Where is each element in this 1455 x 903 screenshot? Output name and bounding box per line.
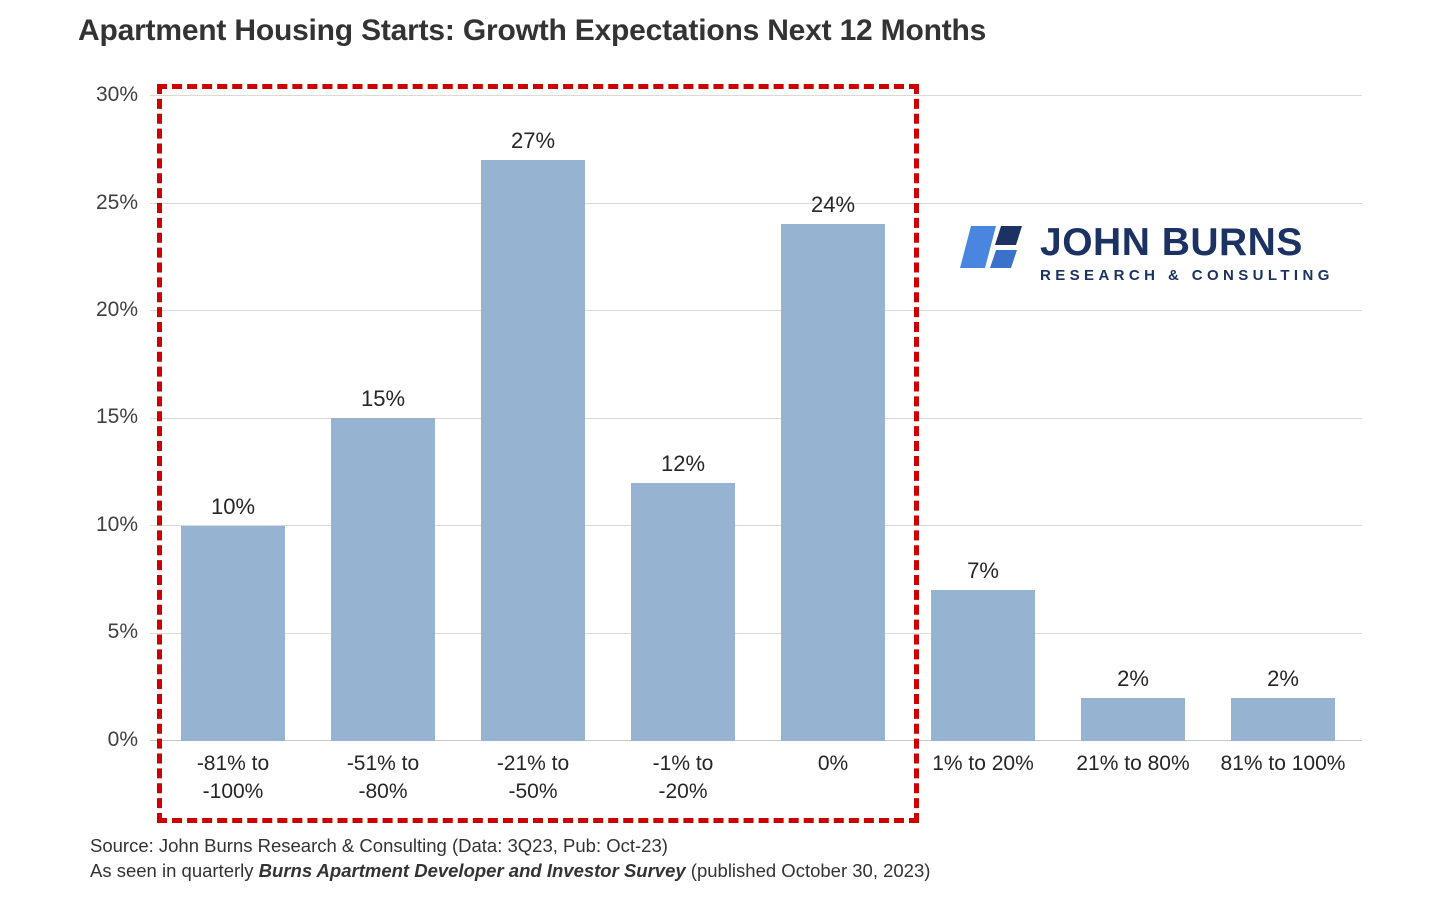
chart-title: Apartment Housing Starts: Growth Expecta… [78, 14, 986, 48]
john-burns-logo-text: JOHN BURNS RESEARCH & CONSULTING [1040, 222, 1308, 284]
x-tick-line2: -100% [151, 778, 315, 806]
x-tick-line1: 21% to 80% [1051, 750, 1215, 778]
bar-21-to-80[interactable] [1081, 698, 1185, 741]
bar-label-81-to-100: 2% [1231, 666, 1335, 692]
gridline-20 [150, 310, 1362, 311]
bar-neg1-to-neg20[interactable] [631, 483, 735, 741]
x-tick-neg21-to-neg50: -21% to -50% [451, 750, 615, 806]
bar-label-zero: 24% [781, 192, 885, 218]
y-tick-10: 10% [18, 513, 138, 537]
x-tick-line1: -21% to [451, 750, 615, 778]
x-tick-line2: -50% [451, 778, 615, 806]
y-tick-20: 20% [18, 298, 138, 322]
source-footer: Source: John Burns Research & Consulting… [90, 833, 930, 883]
y-tick-0: 0% [18, 728, 138, 752]
x-tick-line1: -1% to [601, 750, 765, 778]
source-line: Source: John Burns Research & Consulting… [90, 833, 930, 858]
bar-1-to-20[interactable] [931, 590, 1035, 741]
x-tick-line1: 81% to 100% [1201, 750, 1365, 778]
x-tick-zero: 0% [751, 750, 915, 778]
bar-label-21-to-80: 2% [1081, 666, 1185, 692]
x-tick-line1: 1% to 20% [901, 750, 1065, 778]
x-tick-line2: -20% [601, 778, 765, 806]
x-tick-line1: -81% to [151, 750, 315, 778]
x-tick-line2: -80% [301, 778, 465, 806]
bar-label-neg51-to-neg80: 15% [331, 386, 435, 412]
bar-neg81-to-neg100[interactable] [181, 526, 285, 741]
gridline-30 [150, 95, 1362, 96]
logo-subtitle: RESEARCH & CONSULTING [1040, 267, 1308, 284]
bar-neg51-to-neg80[interactable] [331, 418, 435, 741]
bar-81-to-100[interactable] [1231, 698, 1335, 741]
x-tick-neg1-to-neg20: -1% to -20% [601, 750, 765, 806]
survey-title: Burns Apartment Developer and Investor S… [259, 860, 686, 881]
bar-label-neg21-to-neg50: 27% [481, 128, 585, 154]
survey-line: As seen in quarterly Burns Apartment Dev… [90, 858, 930, 883]
bar-label-1-to-20: 7% [931, 558, 1035, 584]
y-tick-30: 30% [18, 83, 138, 107]
x-tick-1-to-20: 1% to 20% [901, 750, 1065, 778]
plot-area: 10% 15% 27% 12% 24% 7% 2% 2% [150, 95, 1362, 741]
bar-zero[interactable] [781, 224, 885, 741]
survey-line-suffix: (published October 30, 2023) [686, 860, 931, 881]
survey-line-prefix: As seen in quarterly [90, 860, 259, 881]
x-tick-line1: 0% [751, 750, 915, 778]
y-tick-25: 25% [18, 191, 138, 215]
y-tick-5: 5% [18, 620, 138, 644]
gridline-25 [150, 203, 1362, 204]
x-tick-line1: -51% to [301, 750, 465, 778]
x-tick-81-to-100: 81% to 100% [1201, 750, 1365, 778]
john-burns-logo-mark-icon [958, 224, 1024, 270]
bar-neg21-to-neg50[interactable] [481, 160, 585, 741]
x-tick-21-to-80: 21% to 80% [1051, 750, 1215, 778]
x-tick-neg51-to-neg80: -51% to -80% [301, 750, 465, 806]
y-tick-15: 15% [18, 405, 138, 429]
bar-label-neg81-to-neg100: 10% [181, 494, 285, 520]
logo-title: JOHN BURNS [1040, 222, 1308, 264]
bar-label-neg1-to-neg20: 12% [631, 451, 735, 477]
x-tick-neg81-to-neg100: -81% to -100% [151, 750, 315, 806]
john-burns-logo: JOHN BURNS RESEARCH & CONSULTING [958, 222, 1350, 288]
